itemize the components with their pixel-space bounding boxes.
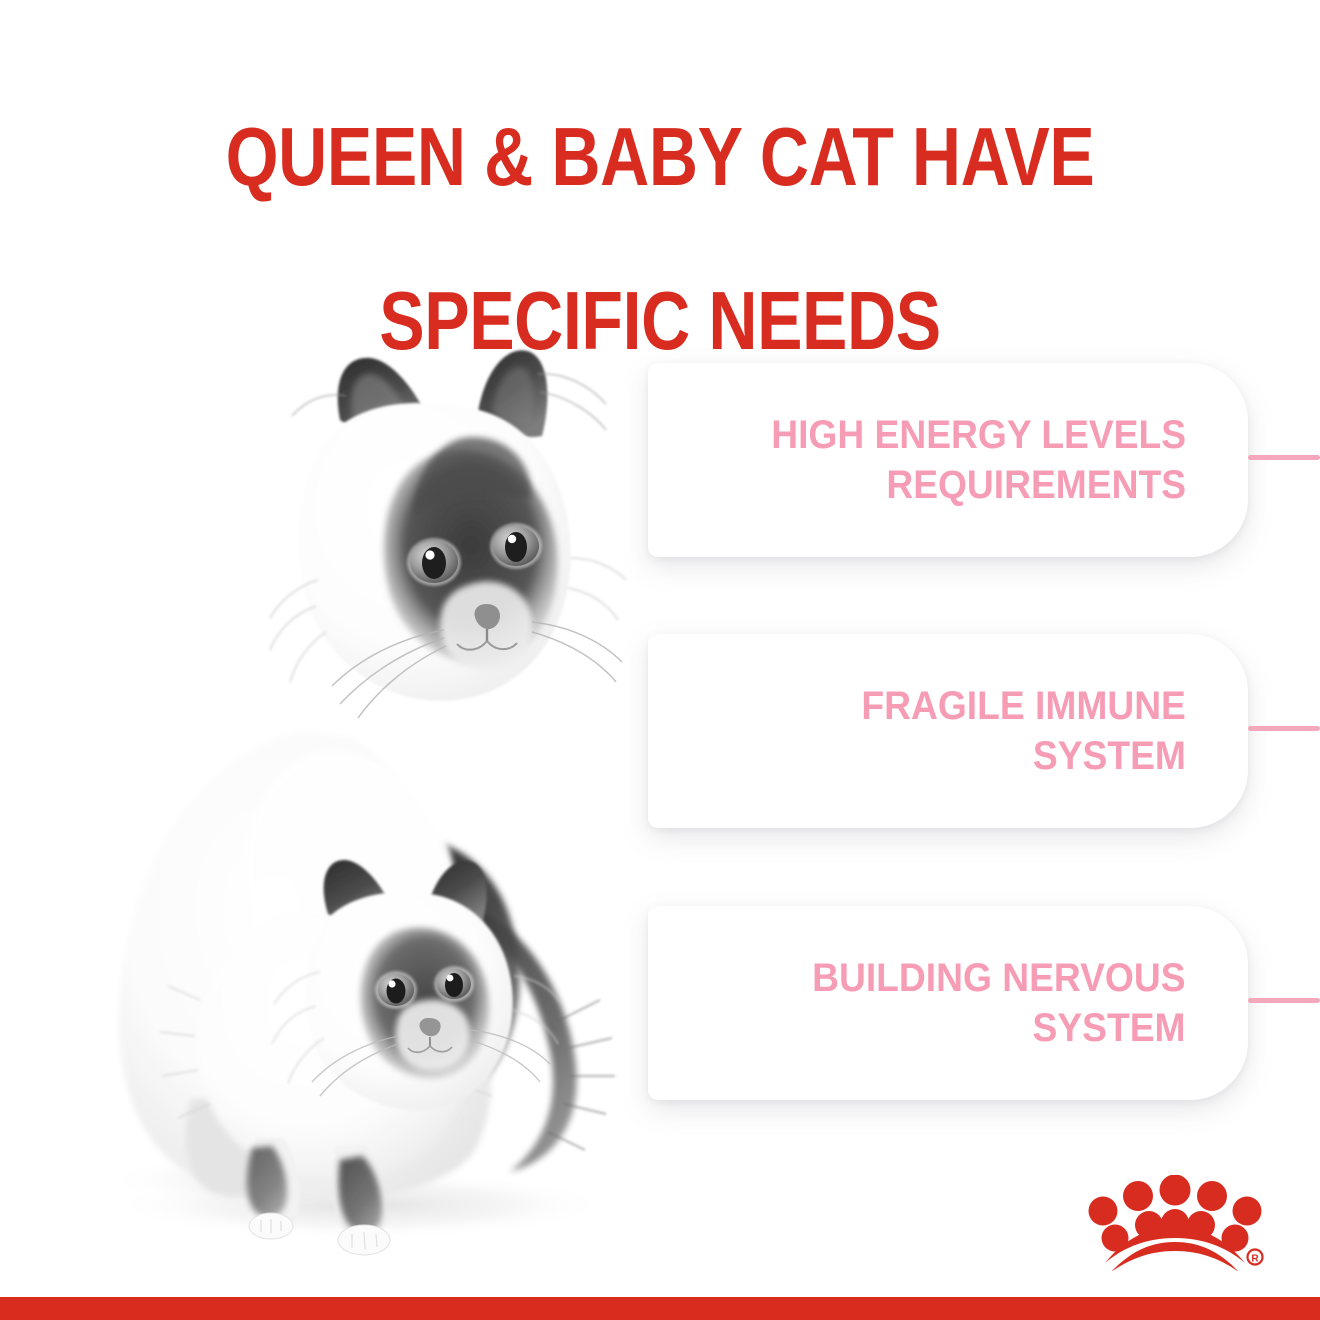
callout-card-fragile-immune[interactable]: FRAGILE IMMUNE SYSTEM: [648, 634, 1248, 828]
connector-line-3: [1248, 998, 1320, 1003]
callout-text-nervous-system: BUILDING NERVOUS SYSTEM: [813, 953, 1186, 1053]
connector-line-1: [1248, 455, 1320, 460]
callout-card-high-energy[interactable]: HIGH ENERGY LEVELS REQUIREMENTS: [648, 363, 1248, 557]
svg-text:R: R: [1251, 1254, 1259, 1265]
callout-card-nervous-system[interactable]: BUILDING NERVOUS SYSTEM: [648, 906, 1248, 1100]
cat-photo: [40, 300, 700, 1260]
callout-text-high-energy: HIGH ENERGY LEVELS REQUIREMENTS: [771, 410, 1186, 510]
poster-root: QUEEN & BABY CAT HAVE SPECIFIC NEEDS: [0, 0, 1320, 1320]
connector-line-2: [1248, 726, 1320, 731]
page-title-line-1: QUEEN & BABY CAT HAVE: [119, 116, 1201, 198]
callout-text-fragile-immune: FRAGILE IMMUNE SYSTEM: [862, 681, 1186, 781]
royal-canin-crown-logo: R: [1085, 1175, 1265, 1271]
registered-trademark-icon: R: [1248, 1250, 1263, 1265]
bottom-accent-bar: [0, 1297, 1320, 1320]
